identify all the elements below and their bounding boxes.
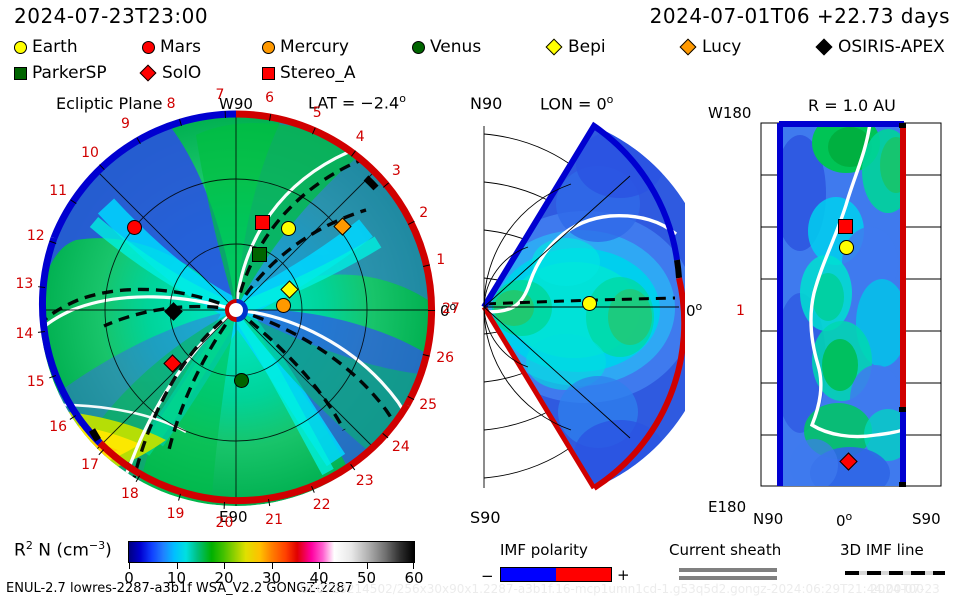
panel1-hour-label-17: 17 [81, 457, 99, 473]
panel1-hour-label-26: 26 [436, 350, 454, 366]
panel3-axis-unit: o [846, 510, 853, 523]
stereo-a-marker [838, 219, 853, 234]
panel3-axis-label-s90: S90 [912, 510, 941, 528]
panel2-right-unit: o [696, 300, 703, 313]
colorbar-r: R [14, 541, 26, 561]
panel1-hour-label-16: 16 [49, 419, 67, 435]
legend-label-bepi: Bepi [568, 37, 606, 57]
earth-marker [582, 296, 597, 311]
sun-marker [227, 301, 245, 319]
panel2-title: LON = 0o [540, 93, 613, 113]
solo-marker-icon [140, 65, 157, 82]
mercury-marker-icon [262, 41, 275, 54]
panel1-hour-tick [223, 502, 225, 509]
legend-item-bepi: Bepi [548, 36, 606, 58]
panel1-hour-label-3: 3 [392, 163, 401, 179]
meridional-density-map [470, 112, 685, 502]
legend-item-venus: Venus [412, 36, 481, 58]
colorbar-title: R2 N (cm−3) [14, 539, 112, 561]
legend-label-earth: Earth [32, 37, 78, 57]
panel1-hour-label-8: 8 [167, 96, 176, 112]
stereo-a-marker-icon [262, 67, 275, 80]
legend-label-solo: SolO [162, 63, 201, 83]
panel1-hour-label-7: 7 [216, 87, 225, 103]
panel2-bottom-label: S90 [470, 508, 501, 527]
osiris-apex-marker-icon [816, 39, 833, 56]
earth-marker-icon [14, 41, 27, 54]
colorbar-tick [367, 562, 368, 569]
earth-marker [839, 240, 854, 255]
imf-polarity-negative-swatch [501, 568, 556, 581]
panel3-row-label: 1 [736, 303, 745, 319]
mars-marker [127, 220, 142, 235]
mercury-marker [276, 298, 291, 313]
panel1-hour-tick [428, 310, 435, 311]
legend-item-solo: SolO [142, 62, 201, 84]
colorbar-unit-exp: −3 [89, 539, 105, 552]
stereo-a-marker [255, 215, 270, 230]
legend-label-mars: Mars [160, 37, 201, 57]
panel1-hour-label-9: 9 [121, 116, 130, 132]
legend-label-parkersp: ParkerSP [32, 63, 107, 83]
parkersp-marker-icon [14, 67, 27, 80]
panel1-hour-label-22: 22 [313, 497, 331, 513]
panel1-hour-label-6: 6 [265, 90, 274, 106]
run-timestamp: 2024-07-01T06 +22.73 days [650, 4, 950, 28]
run-watermark-date: 2024-07-23 [870, 582, 940, 596]
legend-item-stereo-a: Stereo_A [262, 62, 356, 84]
current-sheath-line-top [679, 568, 777, 572]
enlil-forecast-figure: 2024-07-23T23:00 2024-07-01T06 +22.73 da… [0, 0, 960, 600]
current-sheath-title: Current sheath [669, 541, 781, 559]
panel3-top-left-label: W180 [708, 104, 751, 122]
lucy-marker-icon [680, 39, 697, 56]
colorbar-tick [413, 562, 414, 569]
legend-item-earth: Earth [14, 36, 78, 58]
panel1-hour-label-2: 2 [419, 205, 428, 221]
observation-timestamp: 2024-07-23T23:00 [14, 4, 208, 28]
earth-marker [281, 221, 296, 236]
panel1-hour-label-23: 23 [356, 473, 374, 489]
legend-label-venus: Venus [430, 37, 481, 57]
venus-marker [234, 373, 249, 388]
panel2-title-unit: o [607, 93, 614, 106]
legend-label-lucy: Lucy [702, 37, 741, 57]
panel1-hour-label-21: 21 [265, 512, 283, 528]
density-colorbar: 0102030405060 [128, 541, 415, 563]
colorbar-gradient [129, 542, 414, 562]
ecliptic-plane-panel [36, 110, 436, 510]
legend-label-mercury: Mercury [280, 37, 349, 57]
meridional-plane-panel [470, 112, 685, 502]
legend-item-osiris-apex: OSIRIS-APEX [818, 36, 945, 58]
panel1-hour-tick [38, 286, 45, 288]
panel1-hour-label-19: 19 [167, 506, 185, 522]
venus-marker-icon [412, 41, 425, 54]
imf-polarity-title: IMF polarity [500, 541, 588, 559]
panel1-hour-label-15: 15 [27, 374, 45, 390]
colorbar-r-exp: 2 [26, 539, 33, 552]
imf-polarity-positive-swatch [556, 568, 611, 581]
imf-polarity-bar [500, 567, 612, 582]
imf-line-sample [845, 571, 945, 575]
panel1-hour-label-25: 25 [419, 397, 437, 413]
run-watermark: UE0723214502/256x30x90x1.2287-a3b1f.16-m… [300, 582, 924, 596]
panel2-top-label: N90 [470, 94, 502, 113]
colorbar-tick [319, 562, 320, 569]
colorbar-tick [272, 562, 273, 569]
bepi-marker-icon [546, 39, 563, 56]
imf-line-title: 3D IMF line [840, 541, 924, 559]
one-au-density-map [750, 113, 955, 498]
panel1-hour-label-27: 27 [442, 301, 460, 317]
legend-label-stereo-a: Stereo_A [280, 63, 356, 83]
panel1-hour-label-5: 5 [313, 105, 322, 121]
parkersp-marker [252, 247, 267, 262]
panel1-lat-unit: o [399, 92, 406, 105]
colorbar-tick [177, 562, 178, 569]
panel1-hour-label-18: 18 [121, 486, 139, 502]
colorbar-tick [129, 562, 130, 569]
legend-item-mercury: Mercury [262, 36, 349, 58]
panel3-axis-label-zero: 0o [836, 510, 852, 530]
panel1-hour-label-10: 10 [81, 145, 99, 161]
panel2-right-label: 0o [686, 300, 702, 320]
mars-marker-icon [142, 41, 155, 54]
panel3-bottom-left-label: E180 [708, 498, 746, 516]
panel1-hour-label-4: 4 [356, 129, 365, 145]
panel1-hour-label-24: 24 [392, 439, 410, 455]
panel3-axis-zero-value: 0 [836, 512, 846, 530]
object-legend-row-2: ParkerSP SolO Stereo_A [0, 62, 960, 84]
colorbar-unit-close: ) [105, 541, 112, 561]
legend-item-mars: Mars [142, 36, 201, 58]
one-au-panel [755, 120, 915, 490]
panel1-hour-label-13: 13 [15, 276, 33, 292]
panel1-hour-label-20: 20 [216, 515, 234, 531]
panel1-hour-tick [224, 111, 226, 118]
panel2-title-value: LON = 0 [540, 94, 607, 113]
legend-label-osiris-apex: OSIRIS-APEX [838, 37, 945, 57]
legend-item-lucy: Lucy [682, 36, 741, 58]
colorbar-unit-main: N (cm [38, 541, 89, 561]
panel1-hour-label-11: 11 [49, 183, 67, 199]
panel1-hour-label-14: 14 [15, 326, 33, 342]
panel2-right-value: 0 [686, 302, 696, 320]
object-legend-row-1: Earth Mars Mercury Venus Bepi Lucy OSIRI… [0, 36, 960, 58]
panel3-axis-label-n90: N90 [753, 510, 783, 528]
panel1-hour-label-12: 12 [27, 228, 45, 244]
colorbar-tick [224, 562, 225, 569]
legend-item-parkersp: ParkerSP [14, 62, 107, 84]
panel1-hour-label-1: 1 [436, 252, 445, 268]
current-sheath-line-bottom [679, 576, 777, 580]
